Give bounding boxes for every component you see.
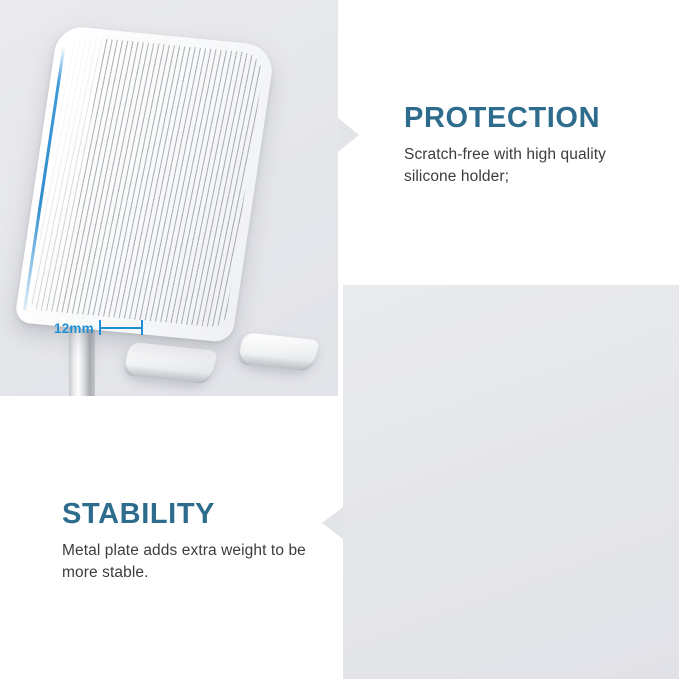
- arrow-right-icon: [338, 118, 359, 152]
- product-photo-cradle: 12mm: [0, 0, 338, 396]
- dimension-label-12mm: 12mm: [54, 321, 94, 336]
- stability-body-text: Metal plate adds extra weight to be more…: [62, 540, 314, 584]
- lip-right-shading: [236, 353, 314, 372]
- stability-feature-block: STABILITY Metal plate adds extra weight …: [62, 500, 314, 584]
- lip-left-shading: [122, 364, 212, 384]
- protection-body-text: Scratch-free with high quality silicone …: [404, 144, 654, 188]
- cradle-lip-right: [236, 332, 320, 371]
- arrow-left-icon: [322, 507, 343, 539]
- protection-headline: PROTECTION: [404, 104, 654, 133]
- dimension-cap-right: [141, 320, 143, 335]
- infographic-canvas: 12mm PROTECTION Scratch-free with high q…: [0, 0, 679, 679]
- dimension-line: [99, 327, 143, 329]
- cradle-plate: [14, 25, 276, 343]
- product-photo-base: [343, 285, 679, 679]
- cradle-lip-left: [122, 342, 218, 384]
- protection-feature-block: PROTECTION Scratch-free with high qualit…: [404, 104, 654, 188]
- stability-headline: STABILITY: [62, 500, 314, 529]
